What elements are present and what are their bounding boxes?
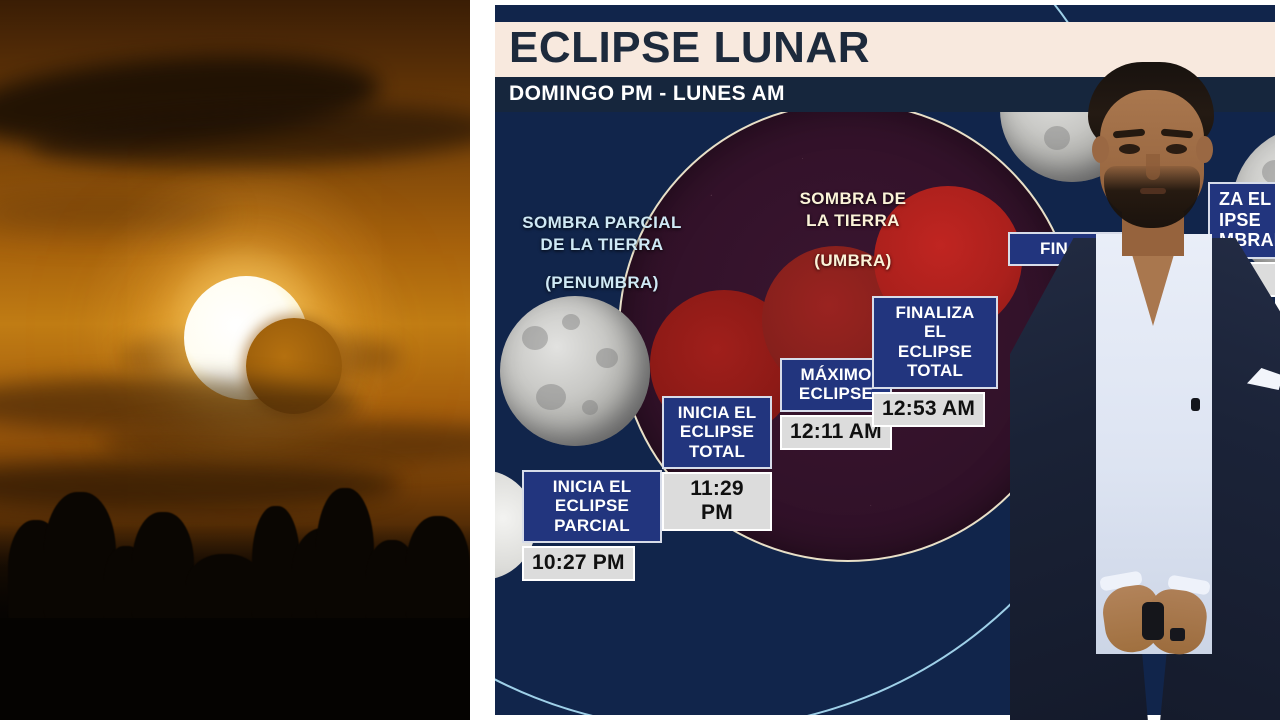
- penumbra-label-line3: (PENUMBRA): [502, 272, 702, 294]
- callout-line3: TOTAL: [883, 361, 987, 380]
- umbra-label: SOMBRA DE LA TIERRA (UMBRA): [748, 188, 958, 272]
- ear-right: [1196, 136, 1213, 163]
- callout-finaliza-total: FINALIZA EL ECLIPSE TOTAL 12:53 AM: [872, 296, 998, 427]
- callout-line2: ECLIPSE: [533, 496, 651, 515]
- callout-time: 11:29 PM: [662, 472, 772, 531]
- treeline-base: [0, 618, 470, 720]
- penumbra-label: SOMBRA PARCIAL DE LA TIERRA (PENUMBRA): [502, 212, 702, 293]
- umbra-label-line1: SOMBRA DE: [748, 188, 958, 210]
- umbra-label-line2: LA TIERRA: [748, 210, 958, 232]
- callout-line1: FINALIZA EL: [883, 303, 987, 342]
- callout-inicia-total: INICIA EL ECLIPSE TOTAL 11:29 PM: [662, 396, 772, 531]
- eye-right: [1166, 144, 1187, 154]
- tree-silhouette: [132, 512, 194, 624]
- callout-title: FINALIZA EL ECLIPSE TOTAL: [872, 296, 998, 389]
- callout-line1: INICIA EL: [673, 403, 761, 422]
- callout-inicia-parcial: INICIA EL ECLIPSE PARCIAL 10:27 PM: [522, 470, 662, 581]
- broadcast-screenshot: SOMBRA PARCIAL DE LA TIERRA (PENUMBRA) S…: [0, 0, 1280, 720]
- lapel-microphone-icon: [1191, 398, 1200, 411]
- moon-inicia-parcial: [500, 296, 650, 446]
- callout-title: INICIA EL ECLIPSE TOTAL: [662, 396, 772, 469]
- nose: [1146, 154, 1160, 180]
- eclipse-photo: [0, 0, 470, 720]
- presentation-clicker: [1142, 602, 1164, 640]
- eye-left: [1119, 144, 1140, 154]
- penumbra-label-line1: SOMBRA PARCIAL: [502, 212, 702, 234]
- callout-time: 10:27 PM: [522, 546, 635, 581]
- callout-line2: ECLIPSE: [673, 422, 761, 441]
- callout-line2: ECLIPSE: [883, 342, 987, 361]
- callout-line3: TOTAL: [673, 442, 761, 461]
- callout-line1: INICIA EL: [533, 477, 651, 496]
- presenter-figure: [1000, 62, 1280, 720]
- mouth: [1140, 188, 1166, 194]
- ear-left: [1092, 136, 1109, 163]
- penumbra-label-line2: DE LA TIERRA: [502, 234, 702, 256]
- tree-silhouette: [406, 516, 470, 624]
- callout-line1: MÁXIMO: [791, 365, 881, 384]
- callout-time: 12:53 AM: [872, 392, 985, 427]
- callout-title: INICIA EL ECLIPSE PARCIAL: [522, 470, 662, 543]
- callout-line3: PARCIAL: [533, 516, 651, 535]
- finger-ring: [1170, 628, 1185, 641]
- umbra-label-line3: (UMBRA): [748, 250, 958, 272]
- callout-line2: ECLIPSE: [791, 384, 881, 403]
